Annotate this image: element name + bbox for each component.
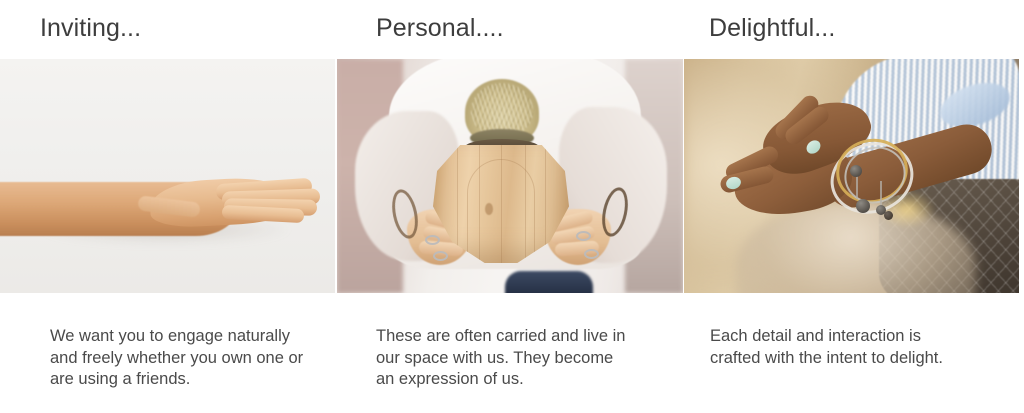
- three-column-feature-slide: Inviting... Personal.... Delightful...: [0, 0, 1024, 413]
- finger-ring: [433, 251, 448, 261]
- wooden-planter-photo: [337, 59, 683, 293]
- charm-pendant: [884, 211, 893, 220]
- column-1-photo: [0, 59, 335, 293]
- wood-knot: [485, 203, 493, 215]
- column-3-body-text: Each detail and interaction is crafted w…: [710, 326, 1000, 369]
- charm-bracelet-photo: [684, 59, 1019, 293]
- finger-ring: [425, 235, 440, 245]
- finger-ring: [584, 249, 599, 259]
- jeans-shape: [505, 271, 593, 293]
- column-2-body-text: These are often carried and live in our …: [376, 326, 666, 391]
- column-3-heading: Delightful...: [709, 13, 835, 43]
- column-2-heading: Personal....: [376, 13, 504, 43]
- column-1-heading: Inviting...: [40, 13, 141, 43]
- column-1-body-text: We want you to engage naturally and free…: [50, 326, 330, 391]
- charm-chain: [880, 181, 882, 205]
- column-3-photo: [684, 59, 1019, 293]
- column-2-photo: [337, 59, 683, 293]
- charm-pendant: [850, 165, 862, 177]
- open-palm-photo: [0, 59, 335, 293]
- finger-ring: [576, 231, 591, 241]
- facet-arch: [467, 159, 535, 252]
- charm-pendant: [856, 199, 870, 213]
